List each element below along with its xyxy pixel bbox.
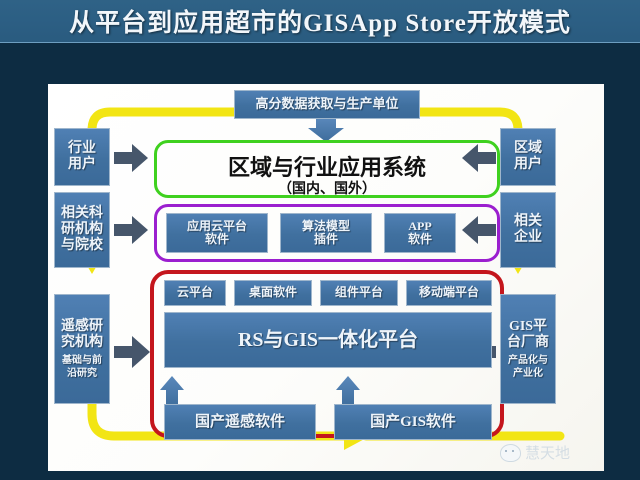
box-regional-users-line1: 区域 bbox=[514, 141, 542, 157]
box-gis-platform-vendor-sub2: 产业化 bbox=[513, 368, 543, 379]
box-rs-research-line1: 遥感研 bbox=[61, 319, 103, 335]
box-industry-users-line2: 用户 bbox=[68, 157, 96, 173]
box-algorithm-model-plugin-line1: 算法模型 bbox=[302, 220, 350, 233]
box-app-cloud-platform-software-line1: 应用云平台 bbox=[187, 220, 247, 233]
box-app-software-line1: APP bbox=[408, 220, 431, 233]
box-rs-research-line2: 究机构 bbox=[61, 335, 103, 351]
box-rs-gis-integrated-platform-label: RS与GIS一体化平台 bbox=[238, 329, 418, 351]
box-component-platform-label: 组件平台 bbox=[335, 286, 383, 299]
box-gis-platform-vendor-line2: 台厂商 bbox=[507, 335, 549, 351]
box-mobile-platform[interactable]: 移动端平台 bbox=[406, 280, 492, 306]
box-industry-users[interactable]: 行业 用户 bbox=[54, 128, 110, 186]
box-related-enterprises[interactable]: 相关 企业 bbox=[500, 192, 556, 268]
box-rs-research-sub2: 沿研究 bbox=[67, 368, 97, 379]
box-related-enterprises-line2: 企业 bbox=[514, 230, 542, 246]
box-cloud-platform[interactable]: 云平台 bbox=[164, 280, 226, 306]
box-regional-users[interactable]: 区域 用户 bbox=[500, 128, 556, 186]
box-app-software-line2: 软件 bbox=[408, 233, 432, 246]
box-mobile-platform-label: 移动端平台 bbox=[419, 286, 479, 299]
watermark: 慧天地 bbox=[500, 442, 570, 463]
box-rs-research-sub1: 基础与前 bbox=[62, 355, 102, 366]
box-related-enterprises-line1: 相关 bbox=[514, 214, 542, 230]
box-desktop-software-label: 桌面软件 bbox=[249, 286, 297, 299]
box-regional-users-line2: 用户 bbox=[514, 157, 542, 173]
box-research-institutes-colleges-line3: 与院校 bbox=[61, 238, 103, 254]
application-system-subtitle: （国内、国外） bbox=[157, 178, 497, 198]
arrow-left-research-to-store bbox=[114, 216, 148, 244]
box-research-institutes-colleges-line2: 研机构 bbox=[61, 222, 103, 238]
box-app-cloud-platform-software-line2: 软件 bbox=[205, 233, 229, 246]
box-cloud-platform-label: 云平台 bbox=[177, 286, 213, 299]
box-domestic-gis-software-label: 国产GIS软件 bbox=[370, 414, 456, 431]
box-component-platform[interactable]: 组件平台 bbox=[320, 280, 398, 306]
diagram-canvas: 高分数据获取与生产单位 区域与行业应用系统 （国内、国外） 应用云平台 软件 算… bbox=[48, 84, 604, 471]
wechat-face-icon bbox=[500, 444, 521, 462]
box-app-cloud-platform-software[interactable]: 应用云平台 软件 bbox=[166, 213, 268, 253]
frame-application-system: 区域与行业应用系统 （国内、国外） bbox=[154, 140, 500, 198]
box-algorithm-model-plugin-line2: 插件 bbox=[314, 233, 338, 246]
page-title: 从平台到应用超市的GISApp Store开放模式 bbox=[0, 3, 640, 39]
arrow-data-to-application bbox=[308, 118, 344, 142]
box-app-software[interactable]: APP 软件 bbox=[384, 213, 456, 253]
box-gis-platform-vendor-sub1: 产品化与 bbox=[508, 355, 548, 366]
box-data-production-unit[interactable]: 高分数据获取与生产单位 bbox=[234, 90, 420, 119]
box-remote-sensing-research-institute[interactable]: 遥感研 究机构 基础与前 沿研究 bbox=[54, 294, 110, 404]
box-research-institutes-colleges[interactable]: 相关科 研机构 与院校 bbox=[54, 192, 110, 268]
box-domestic-gis-software[interactable]: 国产GIS软件 bbox=[334, 404, 492, 440]
box-research-institutes-colleges-line1: 相关科 bbox=[61, 206, 103, 222]
box-algorithm-model-plugin[interactable]: 算法模型 插件 bbox=[280, 213, 372, 253]
box-desktop-software[interactable]: 桌面软件 bbox=[234, 280, 312, 306]
slide-root: 从平台到应用超市的GISApp Store开放模式 bbox=[0, 0, 640, 480]
arrow-left-user-to-app bbox=[114, 144, 148, 172]
box-domestic-rs-software-label: 国产遥感软件 bbox=[195, 414, 285, 431]
box-data-production-unit-label: 高分数据获取与生产单位 bbox=[255, 97, 398, 112]
box-industry-users-line1: 行业 bbox=[68, 141, 96, 157]
box-gis-platform-vendor[interactable]: GIS平 台厂商 产品化与 产业化 bbox=[500, 294, 556, 404]
box-domestic-rs-software[interactable]: 国产遥感软件 bbox=[164, 404, 316, 440]
box-gis-platform-vendor-line1: GIS平 bbox=[509, 319, 547, 335]
watermark-label: 慧天地 bbox=[525, 442, 570, 463]
arrow-left-rs-to-platform bbox=[114, 336, 150, 368]
box-rs-gis-integrated-platform[interactable]: RS与GIS一体化平台 bbox=[164, 312, 492, 368]
